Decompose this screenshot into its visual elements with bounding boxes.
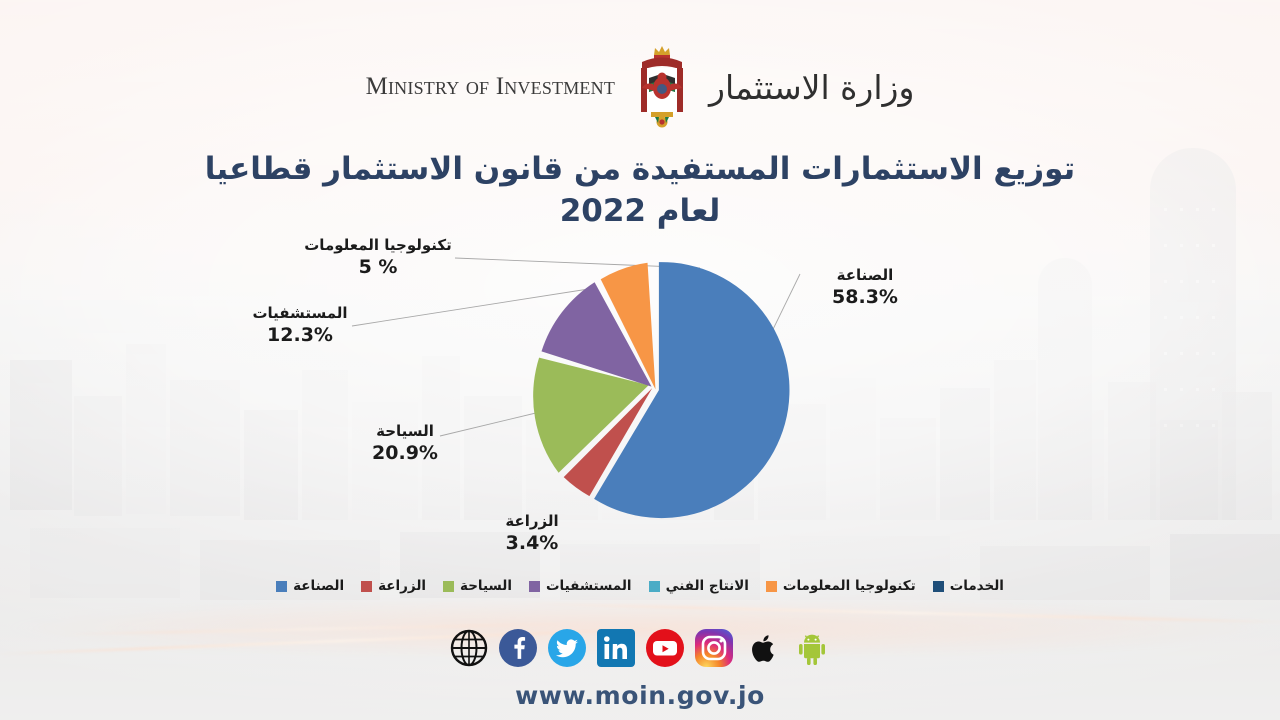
callout-industry-label: الصناعة [790, 266, 940, 285]
callout-it-label: تكنولوجيا المعلومات [288, 236, 468, 255]
legend-swatch-tourism [443, 581, 454, 592]
jordan-coat-of-arms-icon [629, 44, 695, 130]
callout-tourism-label: السياحة [340, 422, 470, 441]
website-url[interactable]: www.moin.gov.jo [0, 681, 1280, 710]
legend-item-artistic-production[interactable]: الانتاج الفني [649, 578, 749, 594]
legend-item-tourism[interactable]: السياحة [443, 578, 512, 594]
callout-tourism-percent: 20.9% [340, 441, 470, 466]
ministry-name-ar: وزارة الاستثمار [709, 68, 914, 107]
callout-agriculture: الزراعة 3.4% [462, 512, 602, 555]
legend-swatch-it [766, 581, 777, 592]
legend-swatch-artistic-production [649, 581, 660, 592]
title-line-1: توزيع الاستثمارات المستفيدة من قانون الا… [150, 148, 1130, 190]
legend-label-services: الخدمات [950, 578, 1004, 594]
callout-hospitals-percent: 12.3% [225, 323, 375, 348]
legend-swatch-hospitals [529, 581, 540, 592]
instagram-icon[interactable] [694, 628, 734, 668]
callout-it: تكنولوجيا المعلومات 5 % [288, 236, 468, 279]
pie-chart: تكنولوجيا المعلومات 5 % المستشفيات 12.3%… [0, 236, 1280, 566]
social-links [0, 628, 1280, 668]
page-title: توزيع الاستثمارات المستفيدة من قانون الا… [150, 148, 1130, 232]
legend-item-it[interactable]: تكنولوجيا المعلومات [766, 578, 916, 594]
callout-tourism: السياحة 20.9% [340, 422, 470, 465]
title-line-2: لعام 2022 [150, 190, 1130, 232]
linkedin-icon[interactable] [596, 628, 636, 668]
chart-legend: الصناعة الزراعة السياحة المستشفيات الانت… [0, 578, 1280, 594]
facebook-icon[interactable] [498, 628, 538, 668]
callout-industry: الصناعة 58.3% [790, 266, 940, 309]
legend-swatch-agriculture [361, 581, 372, 592]
legend-swatch-services [933, 581, 944, 592]
legend-item-industry[interactable]: الصناعة [276, 578, 344, 594]
legend-label-it: تكنولوجيا المعلومات [783, 578, 916, 594]
callout-it-percent: 5 % [288, 255, 468, 280]
youtube-icon[interactable] [645, 628, 685, 668]
website-globe-icon[interactable] [449, 628, 489, 668]
android-icon[interactable] [792, 628, 832, 668]
legend-item-services[interactable]: الخدمات [933, 578, 1004, 594]
legend-label-hospitals: المستشفيات [546, 578, 632, 594]
pie-chart-svg [0, 236, 1280, 566]
callout-industry-percent: 58.3% [790, 285, 940, 310]
twitter-icon[interactable] [547, 628, 587, 668]
pie-slices [533, 262, 789, 518]
legend-label-agriculture: الزراعة [378, 578, 426, 594]
callout-agriculture-percent: 3.4% [462, 531, 602, 556]
legend-item-hospitals[interactable]: المستشفيات [529, 578, 632, 594]
legend-label-tourism: السياحة [460, 578, 512, 594]
callout-hospitals-label: المستشفيات [225, 304, 375, 323]
legend-swatch-industry [276, 581, 287, 592]
callout-hospitals: المستشفيات 12.3% [225, 304, 375, 347]
callout-agriculture-label: الزراعة [462, 512, 602, 531]
legend-item-agriculture[interactable]: الزراعة [361, 578, 426, 594]
legend-label-industry: الصناعة [293, 578, 344, 594]
legend-label-artistic-production: الانتاج الفني [666, 578, 749, 594]
brand-header: Ministry of Investment وزارة الاستثمار [0, 44, 1280, 130]
ministry-name-en: Ministry of Investment [366, 73, 615, 101]
apple-icon[interactable] [743, 628, 783, 668]
